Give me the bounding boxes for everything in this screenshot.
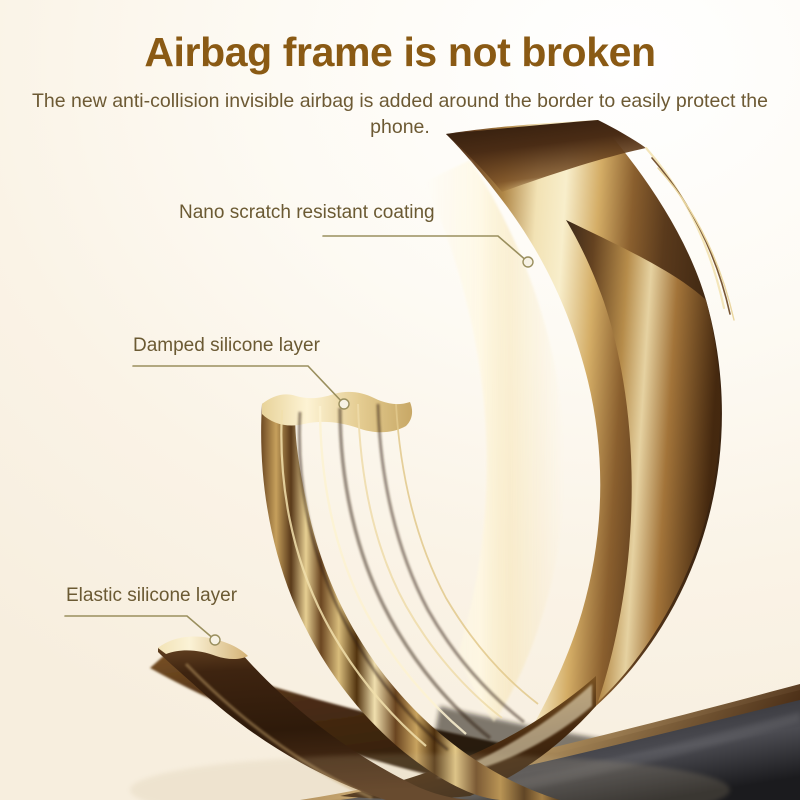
callout-label-nano-scratch-resistant-coating: Nano scratch resistant coating [179, 203, 435, 222]
callout-label-damped-silicone-layer: Damped silicone layer [133, 336, 320, 355]
infographic-canvas: Airbag frame is not broken The new anti-… [0, 0, 800, 800]
page-title: Airbag frame is not broken [0, 30, 800, 75]
callout-label-elastic-silicone-layer: Elastic silicone layer [66, 586, 237, 605]
page-subtitle: The new anti-collision invisible airbag … [8, 88, 792, 141]
